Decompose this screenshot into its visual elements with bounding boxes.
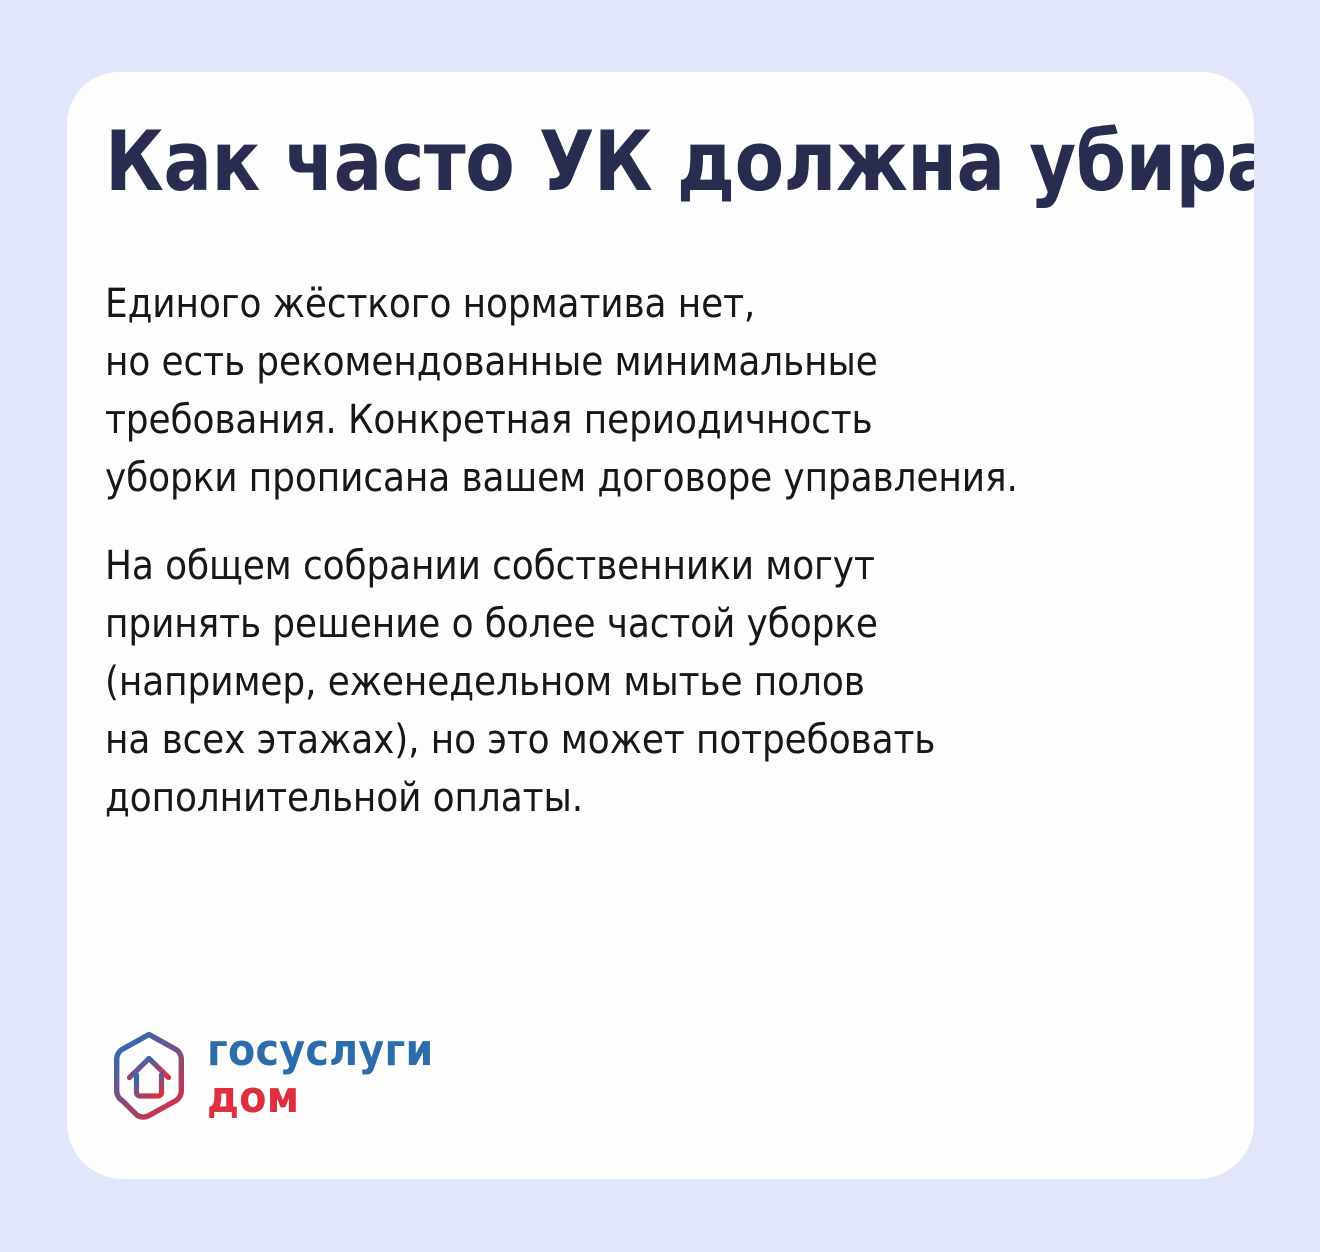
page-title: Как часто УК должна убирать — [105, 120, 1138, 203]
brand-wordmark: госуслуги дом — [207, 1029, 434, 1121]
body-copy: Единого жёсткого норматива нет, но есть … — [105, 274, 1216, 826]
paragraph-1: Единого жёсткого норматива нет, но есть … — [105, 274, 1199, 506]
brand-word-gosuslugi: госуслуги — [207, 1029, 434, 1073]
brand-word-dom: дом — [207, 1076, 434, 1121]
page-canvas: Как часто УК должна убирать Единого жёст… — [0, 0, 1320, 1252]
brand-logo: госуслуги дом — [109, 1029, 434, 1121]
card-content: Как часто УК должна убирать Единого жёст… — [105, 72, 1216, 1179]
info-card: Как часто УК должна убирать Единого жёст… — [67, 72, 1254, 1179]
house-in-hexagon-icon — [109, 1030, 189, 1120]
paragraph-2: На общем собрании собственники могут при… — [105, 536, 1199, 826]
